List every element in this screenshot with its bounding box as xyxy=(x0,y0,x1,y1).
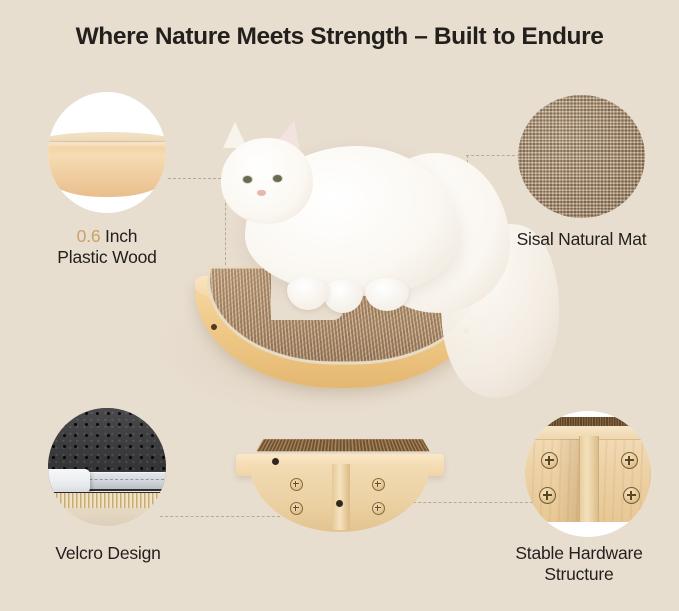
wood-main-band xyxy=(48,143,166,197)
hero-cat-on-shelf xyxy=(175,128,515,398)
callout-stable-hardware-line1: Stable Hardware xyxy=(484,543,674,564)
velcro-layers-closeup-icon xyxy=(48,408,166,526)
sisal-weave-texture-icon xyxy=(518,95,645,218)
screw-bottom-left-icon xyxy=(539,487,556,504)
hardware-center-post xyxy=(579,436,599,522)
callout-plastic-wood-line1: 0.6 Inch xyxy=(28,226,186,247)
screw-top-left-icon xyxy=(541,452,558,469)
underside-screw-bottom-right xyxy=(372,502,385,515)
callout-sisal-mat-line1: Sisal Natural Mat xyxy=(489,229,674,250)
wood-edge-closeup-icon xyxy=(48,92,166,213)
underside-sisal-mat xyxy=(253,438,432,453)
callout-plastic-wood-value: 0.6 xyxy=(77,226,101,246)
wood-screws-closeup-icon xyxy=(525,411,651,537)
infographic-poster: Where Nature Meets Strength – Built to E… xyxy=(0,0,679,611)
callout-plastic-wood-line2: Plastic Wood xyxy=(28,247,186,268)
shelf-underside-view xyxy=(232,430,448,535)
cat-eye-left xyxy=(243,176,252,183)
callout-sisal-mat-caption: Sisal Natural Mat xyxy=(489,229,674,250)
underside-screw-hole-center xyxy=(336,500,343,507)
screw-top-right-icon xyxy=(621,452,638,469)
velcro-felt-hook-layer xyxy=(48,408,166,471)
underside-screw-top-right xyxy=(372,478,385,491)
callout-plastic-wood-unit: Inch xyxy=(100,226,137,246)
underside-screw-hole-left xyxy=(272,458,279,465)
cat-eye-right xyxy=(273,175,282,182)
hardware-post-shadow xyxy=(555,439,580,522)
page-title: Where Nature Meets Strength – Built to E… xyxy=(0,23,679,51)
underside-screw-bottom-left xyxy=(290,502,303,515)
cat-head xyxy=(221,138,313,224)
screw-bottom-right-icon xyxy=(623,487,640,504)
callout-velcro-design-line1: Velcro Design xyxy=(22,543,194,564)
velcro-corrugated-edge xyxy=(48,492,166,508)
wood-highlight xyxy=(48,142,166,148)
velcro-strip-peeled-end xyxy=(48,469,90,493)
cat-nose xyxy=(257,190,266,196)
velcro-base-surface xyxy=(48,508,166,526)
callout-stable-hardware-line2: Structure xyxy=(484,564,674,585)
underside-screw-top-left xyxy=(290,478,303,491)
shelf-screw-hole-left xyxy=(211,324,217,330)
callout-plastic-wood-caption: 0.6 Inch Plastic Wood xyxy=(28,226,186,267)
callout-stable-hardware-caption: Stable Hardware Structure xyxy=(484,543,674,584)
callout-velcro-design-caption: Velcro Design xyxy=(22,543,194,564)
underside-center-post xyxy=(332,464,350,530)
